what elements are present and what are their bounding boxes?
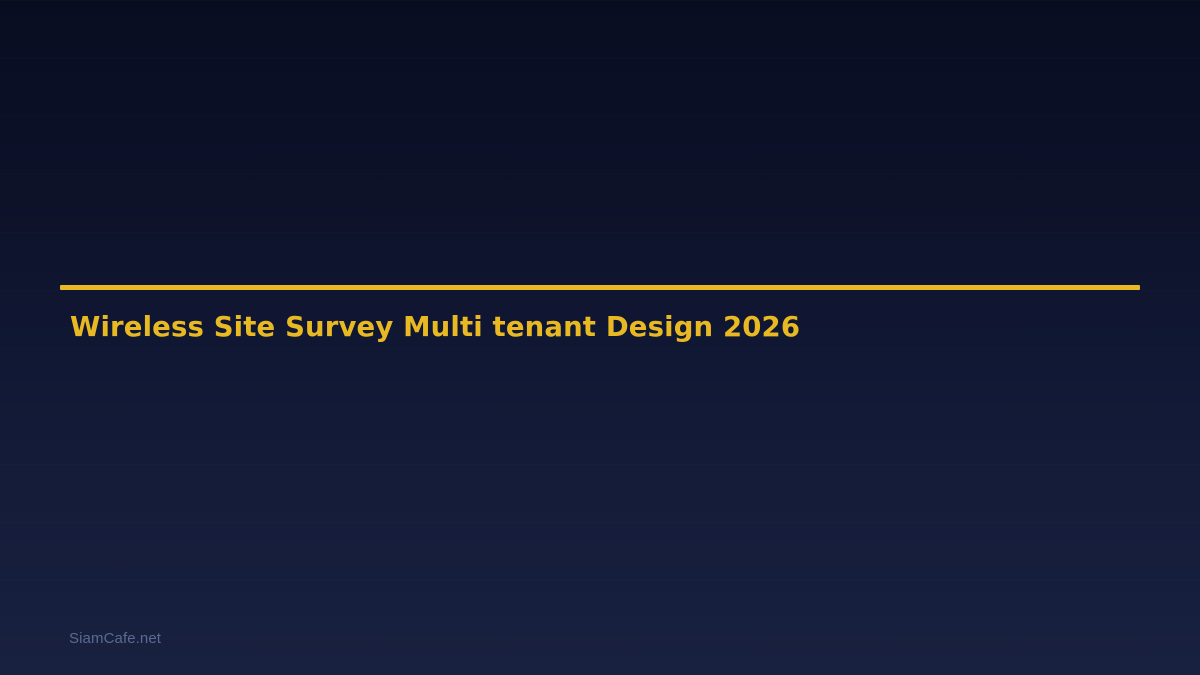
footer-attribution: SiamCafe.net bbox=[69, 630, 161, 647]
slide-canvas: Wireless Site Survey Multi tenant Design… bbox=[0, 0, 1200, 675]
page-title: Wireless Site Survey Multi tenant Design… bbox=[60, 290, 1140, 344]
title-block: Wireless Site Survey Multi tenant Design… bbox=[60, 285, 1140, 344]
